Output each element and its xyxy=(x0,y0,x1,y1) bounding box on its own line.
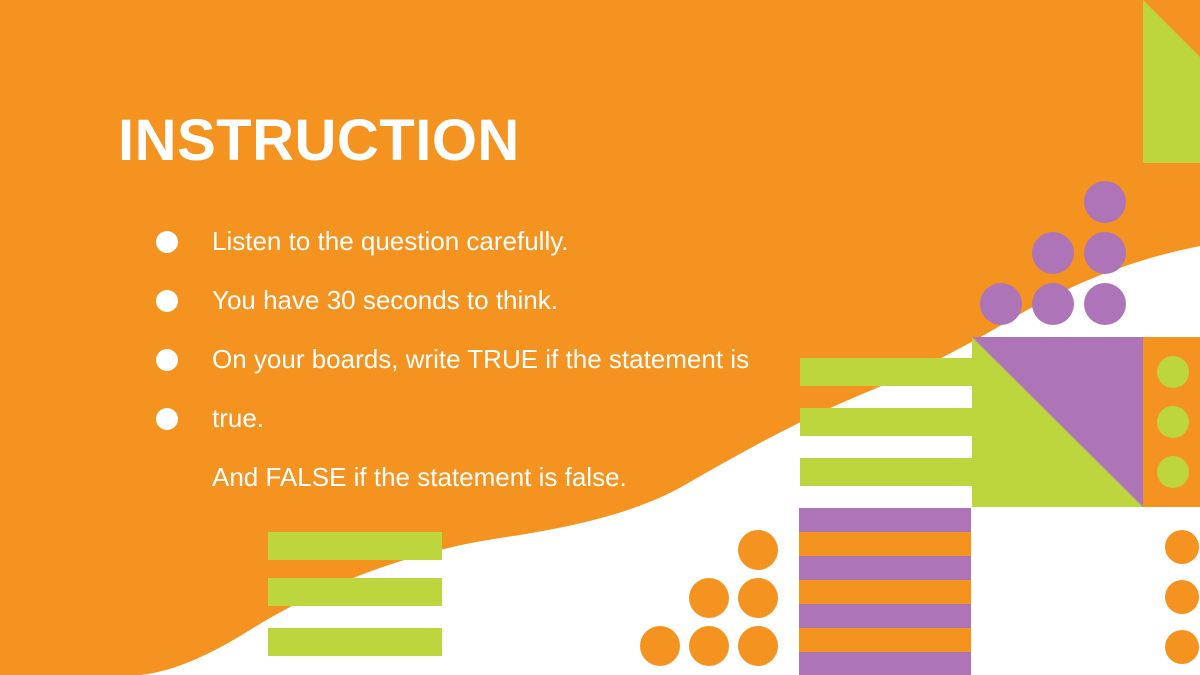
bullet-dot-icon xyxy=(156,231,178,253)
page-title: INSTRUCTION xyxy=(118,112,520,170)
list-item-label: And FALSE if the statement is false. xyxy=(212,462,627,493)
slide-canvas: INSTRUCTION Listen to the question caref… xyxy=(0,0,1200,675)
list-item-label: On your boards, write TRUE if the statem… xyxy=(212,344,749,375)
list-item: Listen to the question carefully. xyxy=(118,212,898,271)
list-item: true. xyxy=(118,389,898,448)
list-item-label: You have 30 seconds to think. xyxy=(212,285,558,316)
bullet-dot-icon xyxy=(156,408,178,430)
bullet-dot-icon xyxy=(156,349,178,371)
list-item-label: true. xyxy=(212,403,264,434)
list-item: On your boards, write TRUE if the statem… xyxy=(118,330,898,389)
list-item: And FALSE if the statement is false. xyxy=(118,448,898,507)
bullet-dot-icon xyxy=(156,290,178,312)
instruction-list: Listen to the question carefully. You ha… xyxy=(118,212,898,507)
list-item: You have 30 seconds to think. xyxy=(118,271,898,330)
slide-content: INSTRUCTION Listen to the question caref… xyxy=(0,0,1200,675)
list-item-label: Listen to the question carefully. xyxy=(212,226,569,257)
